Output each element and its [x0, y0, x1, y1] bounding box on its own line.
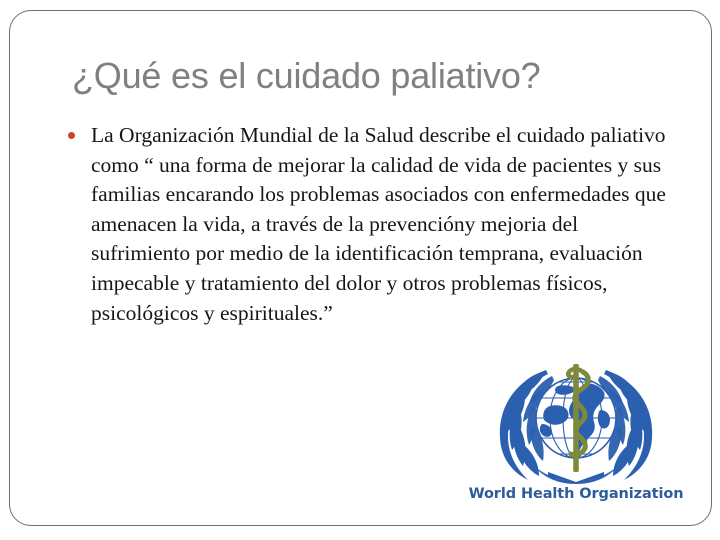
who-emblem-icon	[488, 362, 664, 484]
list-item: La Organización Mundial de la Salud desc…	[68, 121, 680, 328]
presentation-slide: ¿Qué es el cuidado paliativo? La Organiz…	[0, 0, 720, 540]
who-wordmark: World Health Organization	[466, 486, 686, 502]
bullet-dot-icon	[68, 132, 75, 139]
who-logo: World Health Organization	[466, 362, 686, 517]
page-title: ¿Qué es el cuidado paliativo?	[72, 55, 672, 97]
slide-body: La Organización Mundial de la Salud desc…	[68, 121, 680, 328]
bullet-text: La Organización Mundial de la Salud desc…	[91, 121, 680, 328]
